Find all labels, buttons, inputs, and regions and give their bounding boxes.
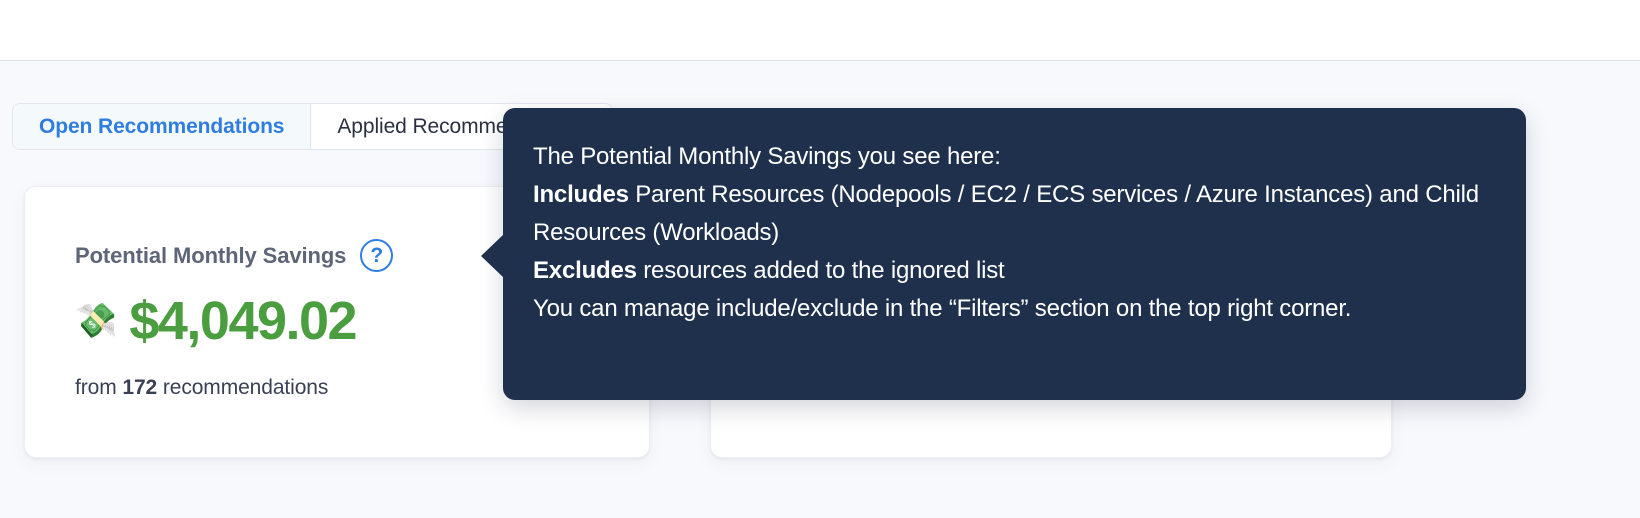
top-header-band (0, 0, 1640, 61)
tooltip-includes-text: Parent Resources (Nodepools / EC2 / ECS … (533, 181, 1479, 246)
tooltip-includes-label: Includes (533, 181, 629, 208)
recommendations-count: 172 (122, 376, 157, 399)
help-icon[interactable]: ? (360, 239, 393, 272)
tooltip-arrow (481, 234, 504, 278)
tooltip-excludes-label: Excludes (533, 257, 637, 284)
tooltip-content: The Potential Monthly Savings you see he… (533, 138, 1492, 328)
tooltip-line-2: Includes Parent Resources (Nodepools / E… (533, 176, 1492, 252)
tab-open-recommendations-label: Open Recommendations (39, 115, 284, 139)
tooltip-excludes-text: resources added to the ignored list (637, 257, 1005, 284)
money-with-wings-icon: 💸 (75, 304, 117, 338)
tooltip-line-3: Excludes resources added to the ignored … (533, 252, 1492, 290)
savings-amount-value: $4,049.02 (129, 294, 356, 348)
tooltip-line-1: The Potential Monthly Savings you see he… (533, 138, 1492, 176)
tab-open-recommendations[interactable]: Open Recommendations (13, 104, 311, 149)
count-prefix: from (75, 376, 117, 399)
tooltip-line-4: You can manage include/exclude in the “F… (533, 290, 1492, 328)
page-title: Potential Monthly Savings (75, 243, 346, 269)
savings-info-tooltip: The Potential Monthly Savings you see he… (503, 108, 1526, 400)
count-suffix: recommendations (163, 376, 328, 399)
